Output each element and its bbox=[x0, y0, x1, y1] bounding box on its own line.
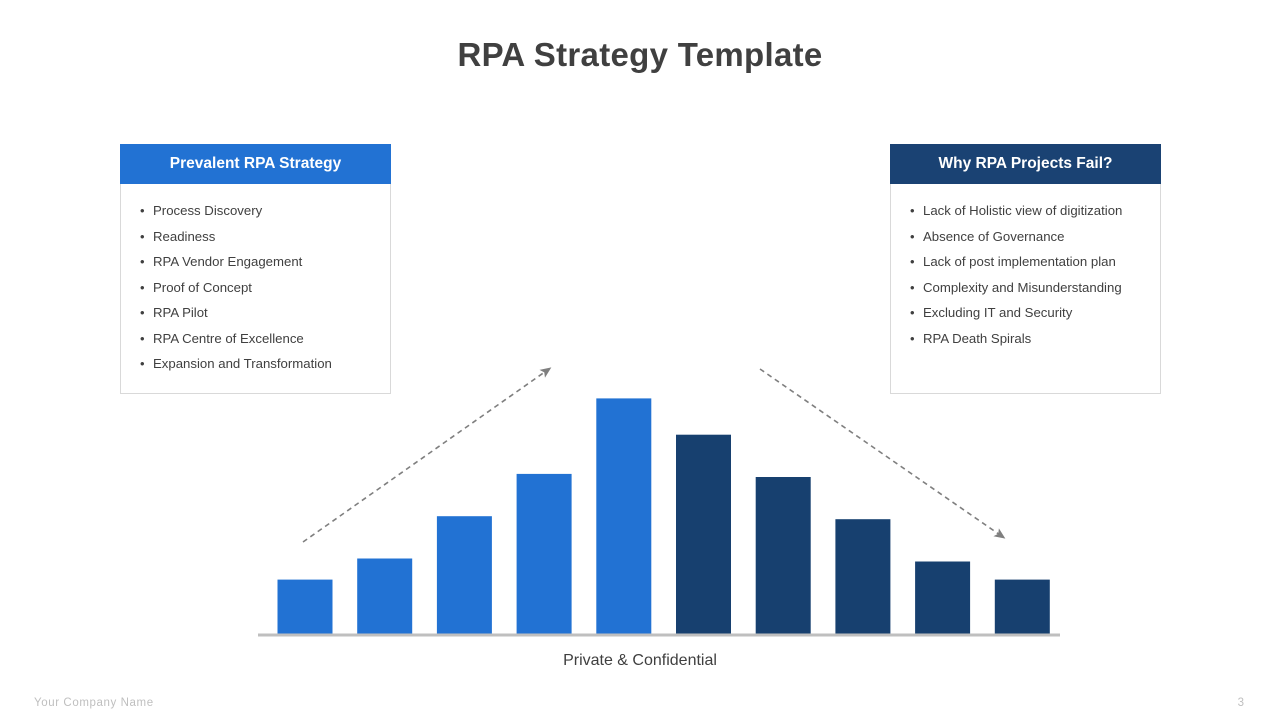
bullet-icon: • bbox=[910, 198, 915, 224]
chart-bar bbox=[995, 580, 1050, 634]
footer-page-number: 3 bbox=[1238, 697, 1244, 709]
list-item: •Lack of post implementation plan bbox=[923, 249, 1152, 275]
bullet-icon: • bbox=[910, 224, 915, 250]
bullet-icon: • bbox=[910, 300, 915, 326]
bullet-icon: • bbox=[140, 249, 145, 275]
slide-canvas: RPA Strategy Template Private & Confiden… bbox=[0, 0, 1280, 720]
list-item: •Expansion and Transformation bbox=[153, 351, 382, 377]
list-item-label: RPA Death Spirals bbox=[923, 331, 1031, 346]
list-item: •Proof of Concept bbox=[153, 275, 382, 301]
bullet-icon: • bbox=[140, 224, 145, 250]
list-item-label: RPA Centre of Excellence bbox=[153, 331, 304, 346]
chart-bar bbox=[278, 580, 333, 634]
list-item-label: RPA Pilot bbox=[153, 305, 208, 320]
list-item-label: Process Discovery bbox=[153, 203, 262, 218]
list-item-label: Absence of Governance bbox=[923, 229, 1065, 244]
bullet-icon: • bbox=[910, 326, 915, 352]
panel-prevalent-rpa-strategy: Prevalent RPA Strategy •Process Discover… bbox=[120, 144, 391, 394]
bullet-icon: • bbox=[140, 300, 145, 326]
list-item: •Process Discovery bbox=[153, 198, 382, 224]
chart-bar bbox=[835, 519, 890, 634]
list-item: •RPA Pilot bbox=[153, 300, 382, 326]
chart-bar bbox=[756, 477, 811, 634]
list-item: •Excluding IT and Security bbox=[923, 300, 1152, 326]
list-item-label: Complexity and Misunderstanding bbox=[923, 280, 1122, 295]
list-item-label: Proof of Concept bbox=[153, 280, 252, 295]
falling-arrow-icon bbox=[760, 369, 1003, 537]
list-item-label: Lack of post implementation plan bbox=[923, 254, 1116, 269]
list-item: •Complexity and Misunderstanding bbox=[923, 275, 1152, 301]
list-item: •Lack of Holistic view of digitization bbox=[923, 198, 1152, 224]
list-item-label: Expansion and Transformation bbox=[153, 356, 332, 371]
bullet-icon: • bbox=[140, 326, 145, 352]
list-item-label: RPA Vendor Engagement bbox=[153, 254, 302, 269]
panel-left-header: Prevalent RPA Strategy bbox=[120, 144, 391, 184]
chart-bar bbox=[915, 562, 970, 635]
list-item: •Absence of Governance bbox=[923, 224, 1152, 250]
rising-arrow-icon bbox=[303, 369, 549, 542]
panel-why-rpa-projects-fail: Why RPA Projects Fail? •Lack of Holistic… bbox=[890, 144, 1161, 394]
bullet-icon: • bbox=[910, 249, 915, 275]
panel-right-list: •Lack of Holistic view of digitization•A… bbox=[891, 184, 1160, 351]
chart-bar bbox=[517, 474, 572, 634]
list-item-label: Lack of Holistic view of digitization bbox=[923, 203, 1122, 218]
confidentiality-caption: Private & Confidential bbox=[0, 652, 1280, 670]
bullet-icon: • bbox=[910, 275, 915, 301]
page-title: RPA Strategy Template bbox=[0, 36, 1280, 74]
list-item-label: Excluding IT and Security bbox=[923, 305, 1072, 320]
bullet-icon: • bbox=[140, 275, 145, 301]
list-item: •RPA Centre of Excellence bbox=[153, 326, 382, 352]
chart-bar bbox=[357, 559, 412, 635]
chart-bar bbox=[596, 398, 651, 634]
list-item: •Readiness bbox=[153, 224, 382, 250]
chart-annotations bbox=[303, 369, 1003, 542]
panel-right-header: Why RPA Projects Fail? bbox=[890, 144, 1161, 184]
list-item-label: Readiness bbox=[153, 229, 215, 244]
footer-company-name: Your Company Name bbox=[34, 697, 154, 709]
list-item: •RPA Vendor Engagement bbox=[153, 249, 382, 275]
chart-bar bbox=[437, 516, 492, 634]
chart-bar bbox=[676, 435, 731, 634]
bullet-icon: • bbox=[140, 351, 145, 377]
chart-bars bbox=[278, 398, 1050, 634]
panel-left-list: •Process Discovery•Readiness•RPA Vendor … bbox=[121, 184, 390, 377]
bullet-icon: • bbox=[140, 198, 145, 224]
list-item: •RPA Death Spirals bbox=[923, 326, 1152, 352]
